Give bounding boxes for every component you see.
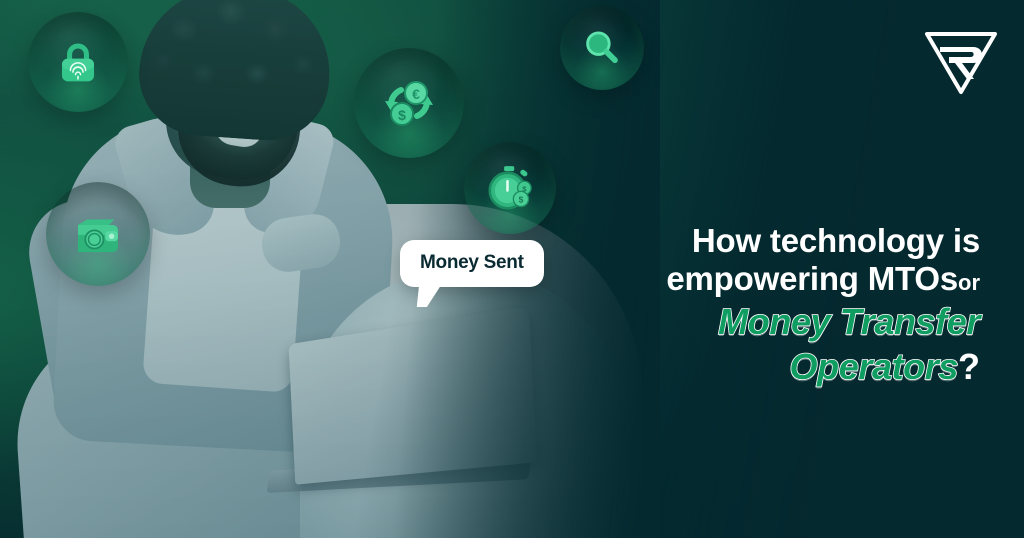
headline-line-2-main: empowering MTOs <box>666 260 958 297</box>
headline-line-3: Money Transfer <box>550 301 980 342</box>
money-sent-label: Money Sent <box>420 252 524 273</box>
headline-line-2-or: or <box>958 270 980 295</box>
magnifier-icon <box>560 6 644 90</box>
headline-line-2: empowering MTOsor <box>550 260 980 298</box>
headline-line-4: Operators? <box>550 346 980 387</box>
headline-green-2: Operators <box>790 346 958 387</box>
currency-exchange-icon: € $ <box>354 48 464 158</box>
money-sent-bubble: Money Sent <box>400 240 544 287</box>
headline-question-mark: ? <box>958 346 980 387</box>
headline-green-1: Money Transfer <box>718 301 980 342</box>
wallet-icon <box>46 182 150 286</box>
headline-block: How technology is empowering MTOsor Mone… <box>550 222 980 387</box>
headline-line-1: How technology is <box>550 222 980 260</box>
stopwatch-money-icon: $ $ <box>464 142 556 234</box>
promo-banner: € $ $ $ Money Sent <box>0 0 1024 538</box>
svg-text:$: $ <box>398 107 406 123</box>
triangle-r-logo[interactable] <box>922 28 1000 98</box>
svg-text:€: € <box>412 86 420 102</box>
fingerprint-lock-icon <box>28 12 128 112</box>
svg-text:$: $ <box>519 194 524 204</box>
